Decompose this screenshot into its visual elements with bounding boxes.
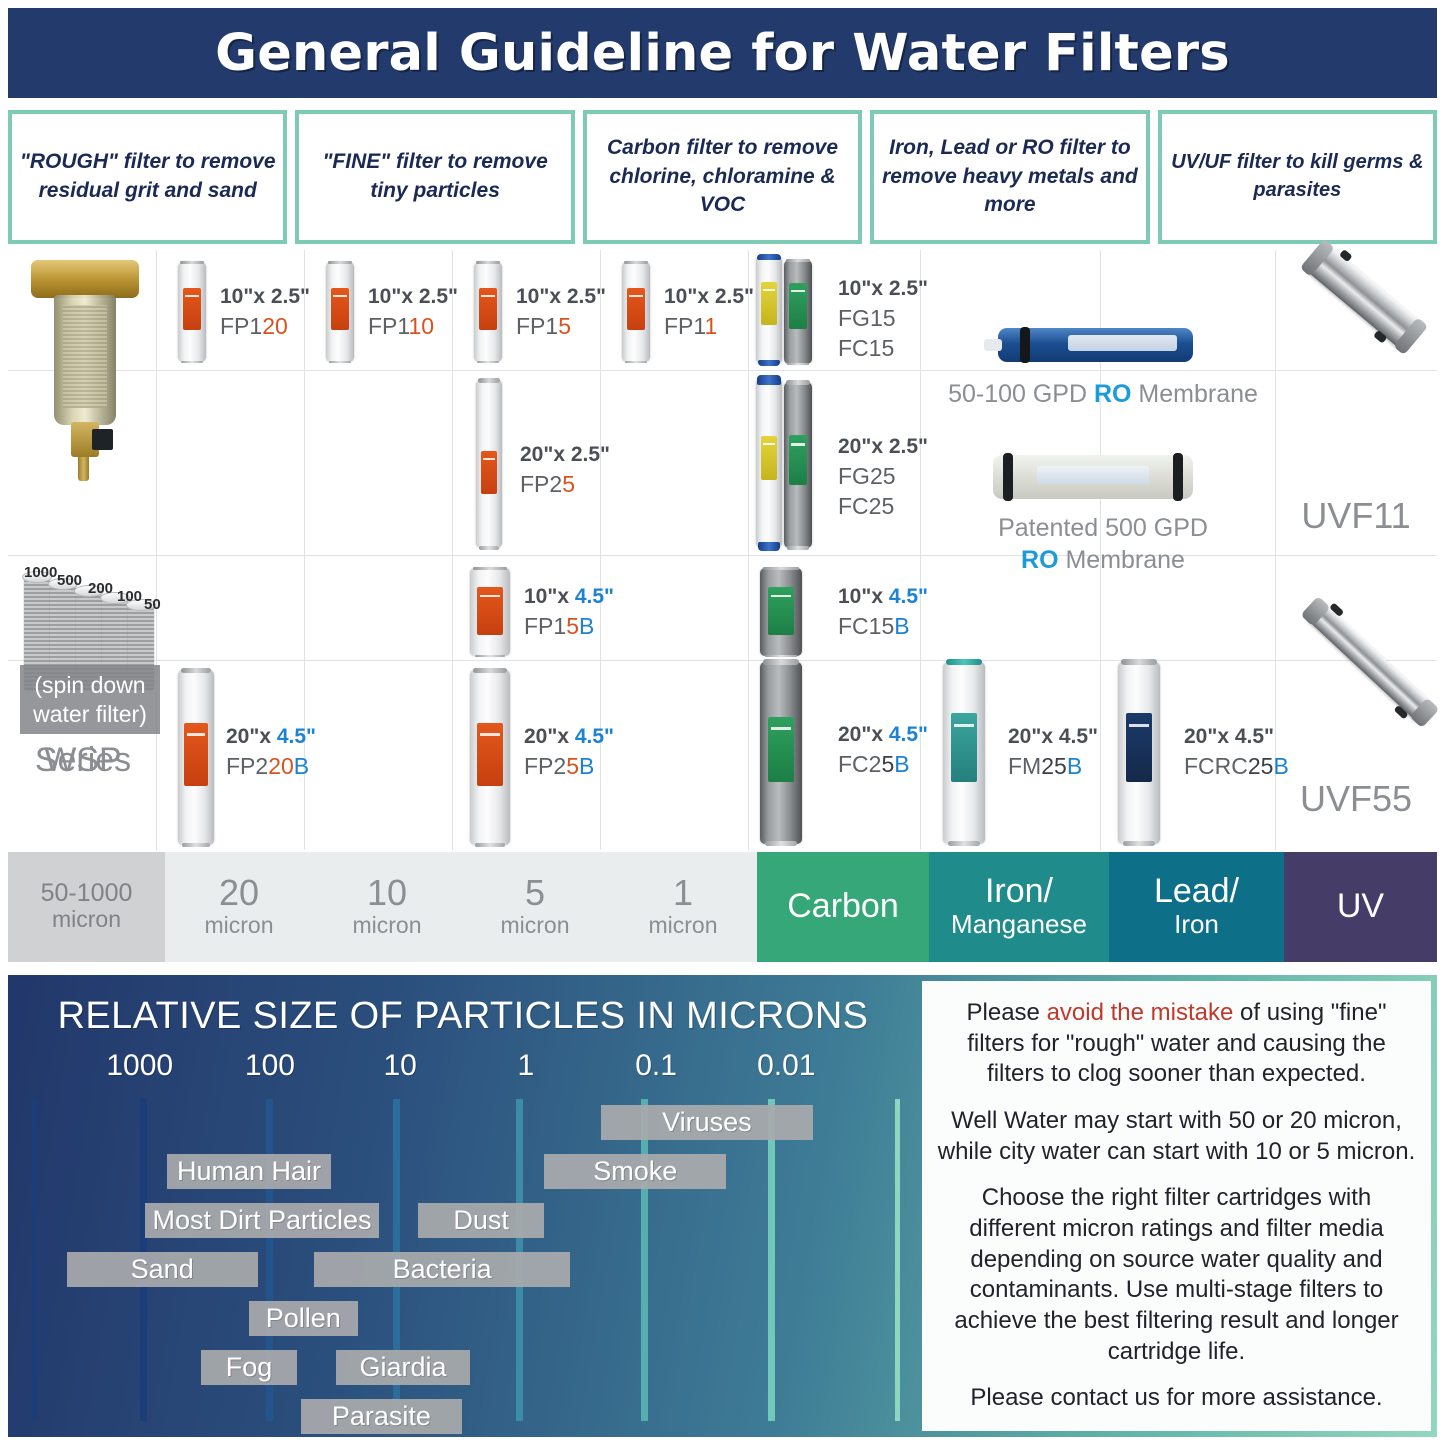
grid-hline-3 <box>8 660 1437 661</box>
label-fp25-model: FP25 <box>520 471 575 497</box>
particle-bar-smoke: Smoke <box>544 1154 726 1189</box>
ro1-ro: RO <box>1094 380 1132 408</box>
uvf55-unit-image <box>1303 599 1436 726</box>
cartridge-fcrc25b-image <box>1118 662 1160 844</box>
chart-scale-axis: 1000 100 10 1 0.1 0.01 <box>14 1049 912 1089</box>
cartridge-fp11-image <box>622 262 650 362</box>
cartridge-fp220b-image <box>178 670 214 845</box>
scale-tick-0.1: 0.1 <box>635 1049 677 1083</box>
header-box-uv-text: UV/UF filter to kill germs & parasites <box>1168 149 1427 204</box>
ro-membrane-50-100-image <box>998 328 1193 362</box>
footer-cell-50-1000-micron: 50-1000 micron <box>8 852 165 962</box>
footer-iron-unit: Manganese <box>951 909 1087 940</box>
cartridge-fp120-image <box>178 262 206 362</box>
footer-uv-value: UV <box>1337 889 1384 925</box>
chart-axis-right <box>895 1099 900 1421</box>
label-fm25b-model: FM25B <box>1008 753 1082 779</box>
footer-cell-20-micron: 20 micron <box>165 852 313 962</box>
particle-bar-most-dirt-particles: Most Dirt Particles <box>145 1203 379 1238</box>
header-box-rough-text: "ROUGH" filter to remove residual grit a… <box>18 148 277 206</box>
header-box-rough: "ROUGH" filter to remove residual grit a… <box>8 110 287 244</box>
footer-cell-iron-manganese: Iron/ Manganese <box>929 852 1109 962</box>
label-fcrc25b: 20"x 4.5" FCRC25B <box>1184 720 1289 781</box>
particle-bar-giardia: Giardia <box>336 1350 471 1385</box>
particle-bar-parasite: Parasite <box>301 1399 462 1434</box>
chart-gridline-0.1 <box>641 1099 648 1421</box>
label-fp220b-size: 20"x 4.5" <box>226 725 316 748</box>
label-fp120-size: 10"x 2.5" <box>220 285 310 308</box>
label-fp15-size: 10"x 2.5" <box>516 285 606 308</box>
particle-bar-fog: Fog <box>201 1350 296 1385</box>
ro2-post: Membrane <box>1059 546 1185 574</box>
label-fc25-model: FC25 <box>838 493 894 519</box>
cartridge-fc25-image <box>784 382 812 548</box>
header-box-uv-uf: UV/UF filter to kill germs & parasites <box>1158 110 1437 244</box>
footer-iron-value: Iron/ <box>985 874 1053 910</box>
page-title: General Guideline for Water Filters <box>215 24 1230 83</box>
cartridge-fp25b-image <box>470 670 510 845</box>
footer-cell-lead-iron: Lead/ Iron <box>1109 852 1284 962</box>
advice-panel: Please avoid the mistake of using "fine"… <box>922 981 1431 1431</box>
particle-size-chart: RELATIVE SIZE OF PARTICLES IN MICRONS 10… <box>14 981 912 1431</box>
label-uvf55: UVF55 <box>1276 778 1436 820</box>
scale-tick-1000: 1000 <box>106 1049 173 1083</box>
chart-title: RELATIVE SIZE OF PARTICLES IN MICRONS <box>14 995 912 1038</box>
footer-lead-unit: Iron <box>1174 909 1219 940</box>
cartridge-fp25-image <box>476 380 502 548</box>
label-ro-membrane-50-100: 50-100 GPD RO Membrane <box>938 378 1268 410</box>
footer-cell-carbon: Carbon <box>757 852 929 962</box>
footer-20-unit: micron <box>204 912 273 940</box>
header-box-carbon-text: Carbon filter to remove chlorine, chlora… <box>593 134 852 221</box>
ro1-post: Membrane <box>1131 380 1257 408</box>
wsp-micron-500: 500 <box>57 572 82 589</box>
uvf11-unit-image <box>1304 243 1424 351</box>
cartridge-fm25b-image <box>943 662 985 844</box>
label-fg25-fc25: 20"x 2.5" FG25 FC25 <box>838 430 928 521</box>
grid-hline-1 <box>8 370 1437 371</box>
label-fp15b: 10"x 4.5" FP15B <box>524 580 614 641</box>
scale-tick-0.01: 0.01 <box>757 1049 815 1083</box>
wsp-micron-100: 100 <box>117 588 142 605</box>
wsp-micron-50: 50 <box>144 596 161 613</box>
label-fg15-size: 10"x 2.5" <box>838 277 928 300</box>
label-uvf11: UVF11 <box>1276 495 1436 537</box>
cartridge-fp15b-image <box>470 568 510 656</box>
label-fp220b-model: FP220B <box>226 753 309 779</box>
header-callout-row: "ROUGH" filter to remove residual grit a… <box>8 110 1437 244</box>
footer-cell-10-micron: 10 micron <box>313 852 461 962</box>
particle-bar-sand: Sand <box>67 1252 258 1287</box>
cartridge-fc15-image <box>784 260 812 364</box>
particle-bar-dust: Dust <box>418 1203 544 1238</box>
footer-cell-1-micron: 1 micron <box>609 852 757 962</box>
wsp-micron-1000: 1000 <box>24 564 57 581</box>
cartridge-fp110-image <box>326 262 354 362</box>
cartridge-fg25-image <box>756 378 782 548</box>
cartridge-fg15-image <box>756 256 782 364</box>
label-fp11: 10"x 2.5" FP11 <box>664 280 754 341</box>
label-fp15: 10"x 2.5" FP15 <box>516 280 606 341</box>
advice-paragraph-4: Please contact us for more assistance. <box>936 1383 1417 1414</box>
footer-5-value: 5 <box>525 874 545 912</box>
micron-rating-footer: 50-1000 micron 20 micron 10 micron 5 mic… <box>8 852 1437 962</box>
scale-tick-1: 1 <box>518 1049 535 1083</box>
footer-5-unit: micron <box>500 912 569 940</box>
label-fp110-model: FP110 <box>368 313 434 339</box>
label-fc25b: 20"x 4.5" FC25B <box>838 718 928 779</box>
label-fc25b-model: FC25B <box>838 751 910 777</box>
label-fm25b-size: 20"x 4.5" <box>1008 725 1098 748</box>
cartridge-fc25b-image <box>760 662 802 844</box>
spin-down-housing-image <box>26 260 144 495</box>
label-fp120-model: FP120 <box>220 313 288 339</box>
footer-carbon-value: Carbon <box>787 889 899 925</box>
advice-paragraph-2: Well Water may start with 50 or 20 micro… <box>936 1106 1417 1167</box>
label-fg25-model: FG25 <box>838 463 896 489</box>
footer-cell-uv: UV <box>1284 852 1437 962</box>
advice-1-pre: Please <box>967 999 1047 1026</box>
scale-tick-100: 100 <box>245 1049 295 1083</box>
label-fg25-size: 20"x 2.5" <box>838 435 928 458</box>
label-fp15b-model: FP15B <box>524 613 594 639</box>
wsp-series-line2: Series <box>8 740 158 781</box>
label-fp120: 10"x 2.5" FP120 <box>220 280 310 341</box>
label-fc15b: 10"x 4.5" FC15B <box>838 580 928 641</box>
advice-paragraph-3: Choose the right filter cartridges with … <box>936 1183 1417 1367</box>
ro-membrane-500-image <box>993 455 1193 499</box>
particle-bar-viruses: Viruses <box>601 1105 814 1140</box>
chart-plot-area: Viruses Smoke Human Hair Most Dirt Parti… <box>32 1099 900 1421</box>
footer-50-1000-value: 50-1000 <box>41 880 133 906</box>
footer-lead-value: Lead/ <box>1154 874 1239 910</box>
footer-10-unit: micron <box>352 912 421 940</box>
cartridge-fc15b-image <box>760 568 802 656</box>
ro2-ro: RO <box>1021 546 1059 574</box>
scale-tick-10: 10 <box>383 1049 416 1083</box>
footer-50-1000-unit: micron <box>52 906 121 934</box>
footer-cell-5-micron: 5 micron <box>461 852 609 962</box>
ro1-pre: 50-100 GPD <box>948 380 1094 408</box>
label-fcrc25b-size: 20"x 4.5" <box>1184 725 1274 748</box>
header-box-iron-lead-ro: Iron, Lead or RO filter to remove heavy … <box>870 110 1149 244</box>
label-fc25b-size: 20"x 4.5" <box>838 723 928 746</box>
label-fp110-size: 10"x 2.5" <box>368 285 458 308</box>
label-fp25b-size: 20"x 4.5" <box>524 725 614 748</box>
label-fm25b: 20"x 4.5" FM25B <box>1008 720 1098 781</box>
footer-20-value: 20 <box>219 874 259 912</box>
label-fg15-model: FG15 <box>838 305 896 331</box>
header-box-fine-text: "FINE" filter to remove tiny particles <box>305 148 564 206</box>
header-box-fine: "FINE" filter to remove tiny particles <box>295 110 574 244</box>
title-bar: General Guideline for Water Filters <box>8 8 1437 98</box>
label-fp220b: 20"x 4.5" FP220B <box>226 720 316 781</box>
cartridge-fp15-image <box>474 262 502 362</box>
spin-down-caption: (spin down water filter) <box>20 665 160 734</box>
label-fcrc25b-model: FCRC25B <box>1184 753 1289 779</box>
wsp-micron-200: 200 <box>88 580 113 597</box>
label-fp15b-size: 10"x 4.5" <box>524 585 614 608</box>
advice-paragraph-1: Please avoid the mistake of using "fine"… <box>936 998 1417 1090</box>
label-fp110: 10"x 2.5" FP110 <box>368 280 458 341</box>
label-fg15-fc15: 10"x 2.5" FG15 FC15 <box>838 272 928 363</box>
label-ro-membrane-500: Patented 500 GPDRO Membrane <box>938 512 1268 576</box>
label-fp25b-model: FP25B <box>524 753 594 779</box>
particle-bar-pollen: Pollen <box>249 1301 358 1336</box>
label-fc15b-model: FC15B <box>838 613 910 639</box>
ro2-pre: Patented 500 GPD <box>998 514 1208 542</box>
label-fp11-size: 10"x 2.5" <box>664 285 754 308</box>
particle-bar-human-hair: Human Hair <box>167 1154 332 1189</box>
bottom-panel: RELATIVE SIZE OF PARTICLES IN MICRONS 10… <box>8 975 1437 1437</box>
header-box-carbon: Carbon filter to remove chlorine, chlora… <box>583 110 862 244</box>
footer-1-unit: micron <box>648 912 717 940</box>
chart-gridline-0.01 <box>768 1099 775 1421</box>
label-fc15b-size: 10"x 4.5" <box>838 585 928 608</box>
footer-1-value: 1 <box>673 874 693 912</box>
infographic-root: General Guideline for Water Filters "ROU… <box>0 0 1445 1445</box>
label-fp11-model: FP11 <box>664 313 717 339</box>
chart-axis-left <box>32 1099 37 1421</box>
label-fp25-size: 20"x 2.5" <box>520 443 610 466</box>
label-fp15-model: FP15 <box>516 313 571 339</box>
header-box-iron-text: Iron, Lead or RO filter to remove heavy … <box>880 134 1139 221</box>
footer-10-value: 10 <box>367 874 407 912</box>
label-fc15-model: FC15 <box>838 335 894 361</box>
label-fp25b: 20"x 4.5" FP25B <box>524 720 614 781</box>
particle-bar-bacteria: Bacteria <box>314 1252 570 1287</box>
advice-1-emphasis: avoid the mistake <box>1047 999 1234 1026</box>
label-fp25: 20"x 2.5" FP25 <box>520 438 610 499</box>
